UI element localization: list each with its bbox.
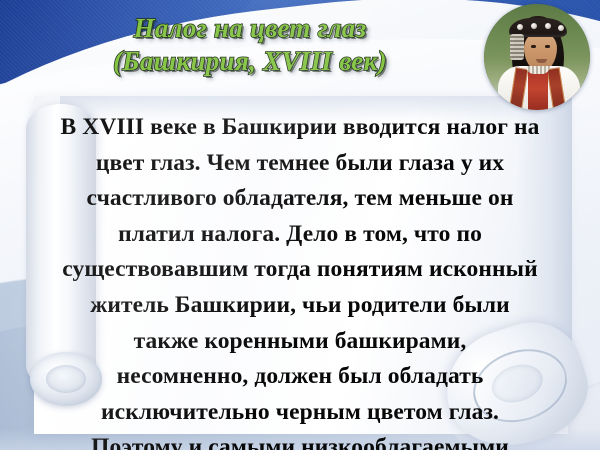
portrait-headdress-coin xyxy=(545,23,551,29)
body-text: В XVIII веке в Башкирии вводится налог н… xyxy=(18,110,582,450)
portrait-headdress-coin xyxy=(517,24,523,30)
body-line: Поэтому и самыми низкооблагаемыми xyxy=(18,430,582,450)
body-line: житель Башкирии, чьи родители были xyxy=(18,288,582,324)
body-line: цвет глаз. Чем темнее были глаза у их xyxy=(18,146,582,182)
portrait-headdress-coin xyxy=(531,23,537,29)
body-line: счастливого обладателя, тем меньше он xyxy=(18,181,582,217)
title-line-2: (Башкирия, XVIII век) xyxy=(34,45,466,78)
body-line: исключительно черным цветом глаз. xyxy=(18,395,582,431)
portrait-headdress-fringe xyxy=(510,34,524,60)
body-line: В XVIII веке в Башкирии вводится налог н… xyxy=(18,110,582,146)
slide-canvas: Налог на цвет глаз (Башкирия, XVIII век)… xyxy=(0,0,600,450)
body-line: платил налога. Дело в том, что по xyxy=(18,217,582,253)
portrait-avatar xyxy=(484,4,590,110)
portrait-breastplate xyxy=(528,70,548,110)
portrait-headdress-coin xyxy=(558,25,564,31)
body-line: также коренными башкирами, xyxy=(18,324,582,360)
slide-title: Налог на цвет глаз (Башкирия, XVIII век) xyxy=(34,12,466,78)
portrait-eye-left xyxy=(531,45,536,48)
title-line-1: Налог на цвет глаз xyxy=(34,12,466,45)
body-line: несомненно, должен был обладать xyxy=(18,359,582,395)
body-line: существовавшим тогда понятиям исконный xyxy=(18,252,582,288)
portrait-eye-right xyxy=(545,45,550,48)
